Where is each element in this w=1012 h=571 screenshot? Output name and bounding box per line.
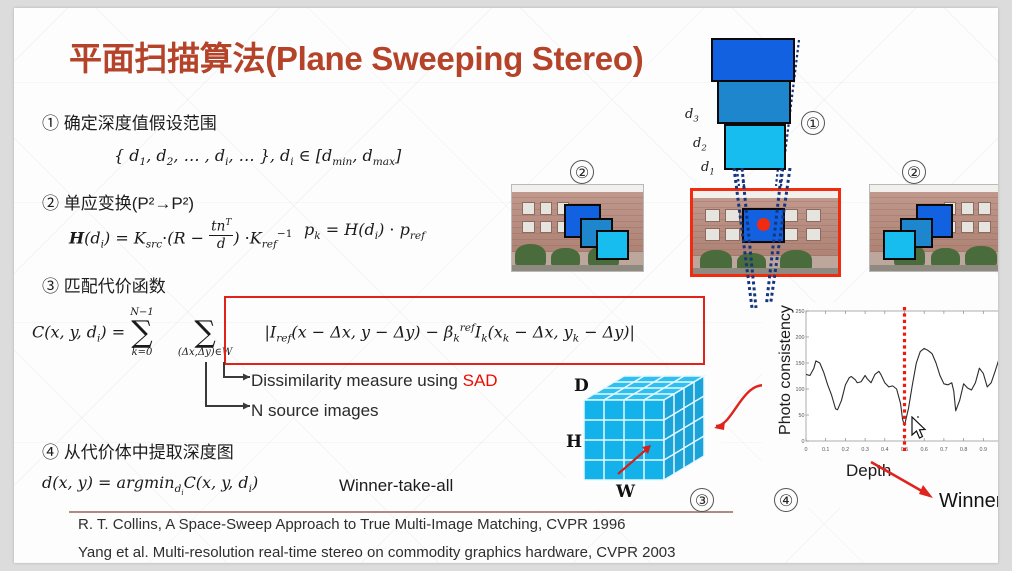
cube-label-h: H: [566, 432, 582, 452]
formula-depth-range: { d1, d2, … , di, … }, di ∈ [dmin, dmax]: [114, 146, 401, 168]
photo-window: [540, 202, 552, 214]
svg-text:0.2: 0.2: [842, 447, 850, 453]
svg-text:0.1: 0.1: [822, 447, 830, 453]
photo-window: [522, 202, 534, 214]
source-image-right: [869, 184, 998, 272]
photo-window: [978, 202, 991, 214]
formula-homography: H(di) = Ksrc·(R − tnTd) ·Kref−1: [69, 218, 292, 252]
annotation-dissimilarity-text: Dissimilarity measure using: [251, 371, 463, 390]
step-3-heading: ③ 匹配代价函数: [42, 272, 166, 297]
page-title: 平面扫描算法(Plane Sweeping Stereo): [69, 32, 643, 80]
photo-window: [522, 221, 534, 233]
formula-depth-argmin: d(x, y) = argmindiC(x, y, di): [42, 473, 258, 497]
photo-window: [540, 221, 552, 233]
step-2-heading: ② 单应变换(P²→P²): [42, 189, 194, 214]
step-1-heading: ① 确定深度值假设范围: [42, 109, 217, 134]
svg-text:0.8: 0.8: [960, 447, 968, 453]
svg-text:150: 150: [796, 361, 805, 367]
warped-patch-d1: [883, 230, 916, 261]
mouse-cursor: [910, 416, 936, 446]
depth-label-d3: d3: [685, 107, 699, 125]
photo-window: [978, 221, 991, 233]
depth-plane-d2: [717, 80, 791, 124]
depth-label-d2: d2: [693, 136, 707, 154]
reference-2: Yang et al. Multi-resolution real-time s…: [78, 544, 676, 561]
svg-text:200: 200: [796, 335, 805, 341]
depth-plane-d1: [724, 124, 786, 170]
cube-label-w: W: [616, 482, 635, 502]
marker-two-left: ②: [570, 160, 594, 184]
photo-window: [961, 202, 974, 214]
photo-window: [961, 221, 974, 233]
marker-two-right: ②: [902, 160, 926, 184]
winner-label: Winner: [939, 490, 998, 513]
reference-divider: [69, 511, 733, 513]
svg-text:0.4: 0.4: [881, 447, 889, 453]
photo-ground: [512, 265, 643, 271]
step-4-heading: ④ 从代价体中提取深度图: [42, 438, 234, 463]
winner-take-all-label: Winner-take-all: [339, 476, 453, 496]
cost-function-highlight-box: [224, 296, 705, 365]
warped-patch-d1: [596, 230, 629, 261]
svg-text:0: 0: [802, 439, 805, 445]
svg-text:0.9: 0.9: [980, 447, 988, 453]
annotation-sad-label: SAD: [463, 371, 498, 390]
svg-text:0.6: 0.6: [920, 447, 928, 453]
cube-label-d: D: [574, 376, 589, 396]
marker-four: ④: [774, 488, 798, 512]
photo-ground: [870, 265, 998, 271]
marker-three: ③: [690, 488, 714, 512]
reference-1: R. T. Collins, A Space-Sweep Approach to…: [78, 516, 626, 533]
svg-text:250: 250: [796, 309, 805, 315]
chart-plot-area: 00.10.20.30.40.50.60.70.80.9105010015020…: [792, 305, 998, 457]
slide-canvas: 平面扫描算法(Plane Sweeping Stereo) ① 确定深度值假设范…: [14, 8, 998, 563]
svg-text:0.7: 0.7: [940, 447, 948, 453]
plane-sweep-frustum-diagram: [709, 36, 799, 166]
annotation-n-source-images: N source images: [251, 401, 379, 421]
svg-text:0: 0: [805, 447, 808, 453]
depth-plane-d3: [711, 38, 795, 82]
svg-text:100: 100: [796, 387, 805, 393]
frustum-rays-center: [690, 168, 840, 318]
formula-point-transfer: pk = H(di) · pref: [304, 220, 425, 242]
source-image-left: [511, 184, 644, 272]
annotation-dissimilarity: Dissimilarity measure using SAD: [251, 371, 498, 391]
svg-text:0.3: 0.3: [861, 447, 869, 453]
svg-text:50: 50: [799, 413, 805, 419]
marker-one: ①: [801, 111, 825, 135]
